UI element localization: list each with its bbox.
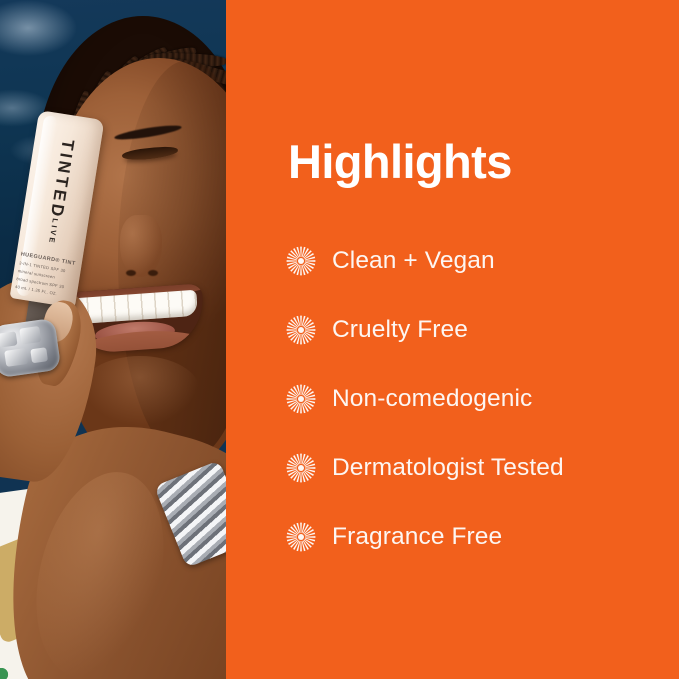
list-item: Cruelty Free xyxy=(286,295,656,364)
sunburst-icon xyxy=(286,315,316,345)
highlights-panel: Highlights Clean + Vegan Cruelty Free No… xyxy=(226,0,679,679)
product-highlights-page: TINTED LIVE HUEGUARD® TINT 3-IN-1 TINTED… xyxy=(0,0,679,679)
chin-highlight xyxy=(80,356,200,426)
nostril-left xyxy=(126,270,136,276)
list-item-label: Dermatologist Tested xyxy=(332,454,564,482)
sunburst-icon xyxy=(286,384,316,414)
list-item-label: Fragrance Free xyxy=(332,523,502,551)
list-item: Clean + Vegan xyxy=(286,226,656,295)
list-item: Non-comedogenic xyxy=(286,364,656,433)
highlights-list: Clean + Vegan Cruelty Free Non-comedogen… xyxy=(286,226,656,571)
sunburst-icon xyxy=(286,453,316,483)
sunburst-icon xyxy=(286,522,316,552)
silver-ring xyxy=(0,318,61,378)
product-brand-prefix: LIVE xyxy=(47,217,60,245)
product-lifestyle-photo: TINTED LIVE HUEGUARD® TINT 3-IN-1 TINTED… xyxy=(0,0,226,679)
page-title: Highlights xyxy=(288,138,512,185)
list-item-label: Clean + Vegan xyxy=(332,247,495,275)
list-item: Dermatologist Tested xyxy=(286,433,656,502)
list-item-label: Non-comedogenic xyxy=(332,385,532,413)
nose xyxy=(120,215,162,277)
list-item-label: Cruelty Free xyxy=(332,316,468,344)
nostril-right xyxy=(148,270,158,276)
list-item: Fragrance Free xyxy=(286,502,656,571)
sunburst-icon xyxy=(286,246,316,276)
